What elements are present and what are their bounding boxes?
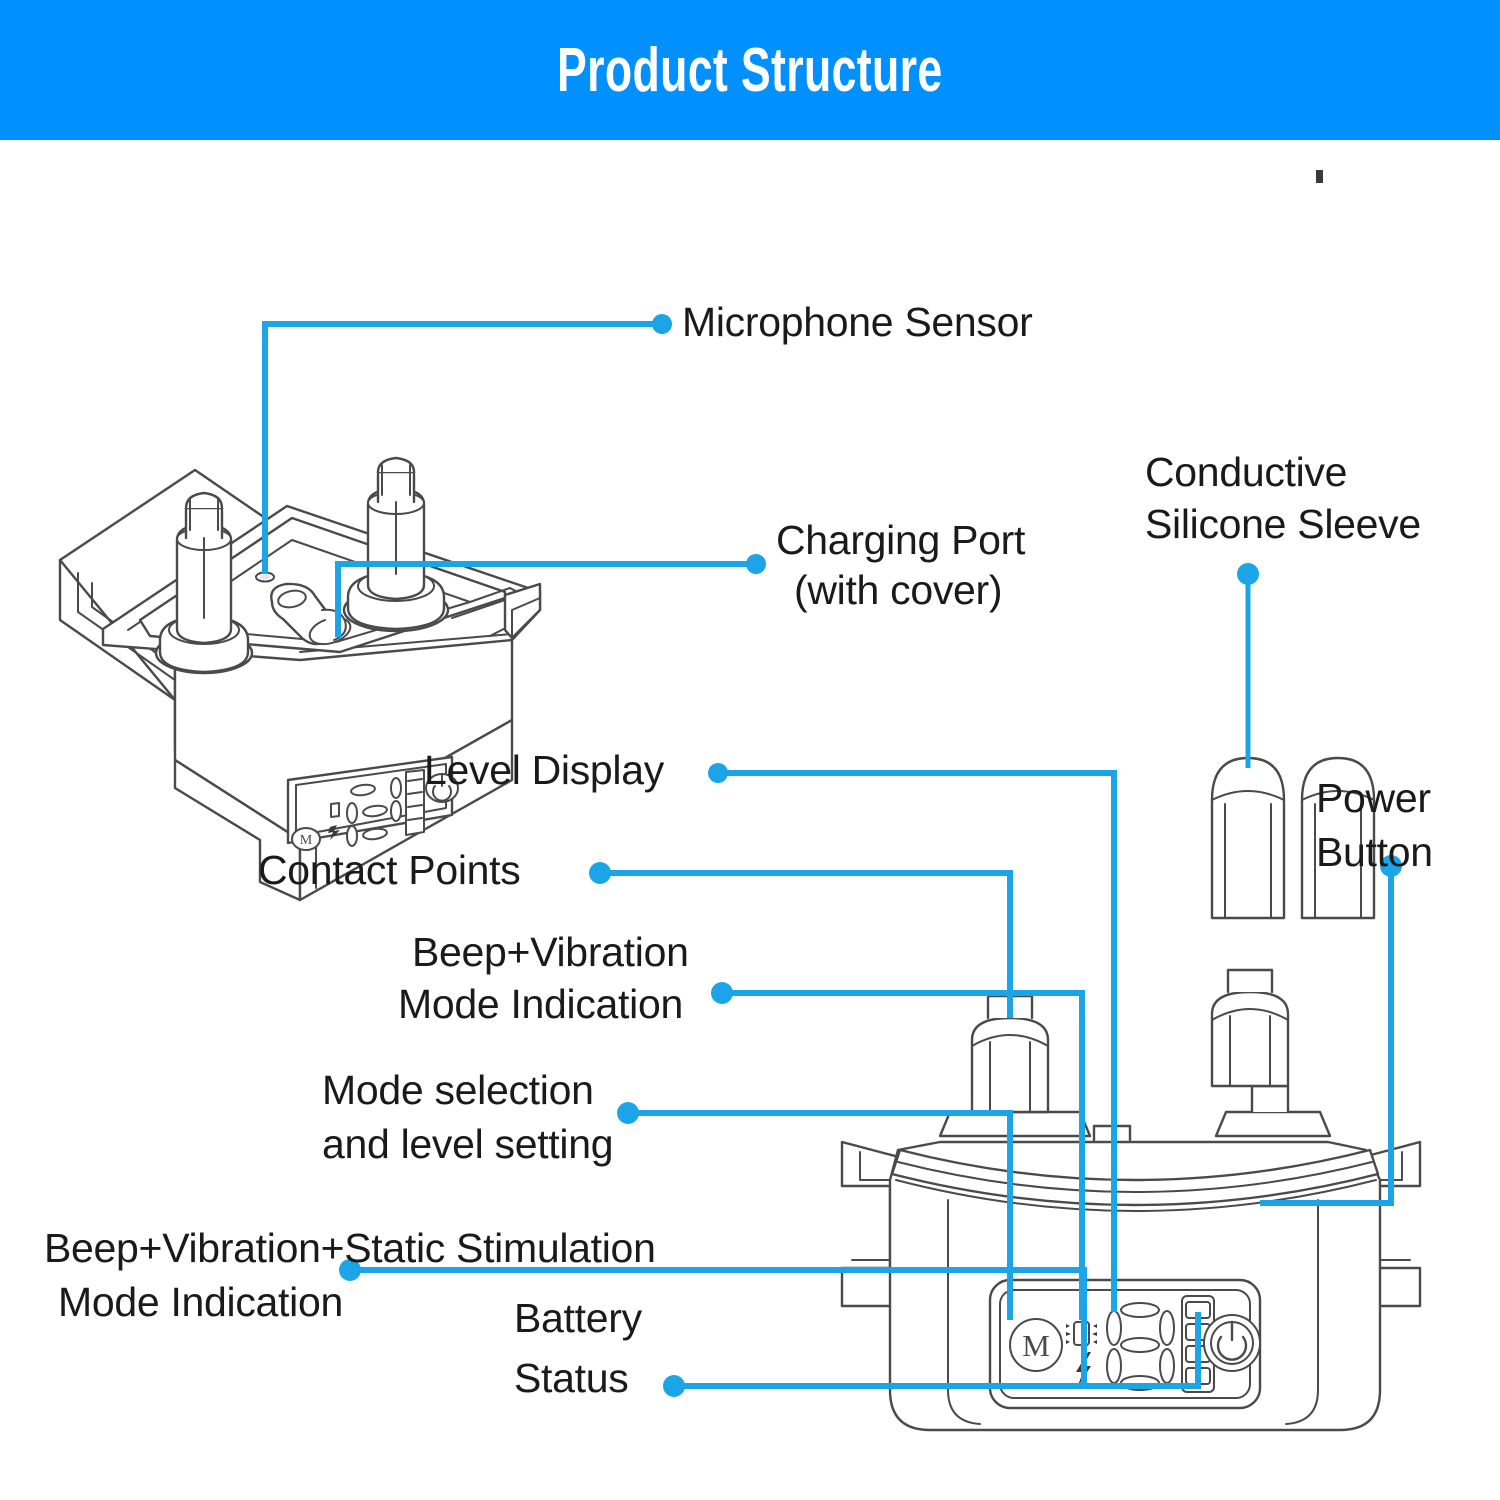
header-banner: Product Structure [0, 0, 1500, 140]
level-bar-iso [406, 770, 424, 835]
label-beep-vib-static-line2: Mode Indication [58, 1280, 343, 1326]
label-beep-vibration-line1: Beep+Vibration [412, 930, 689, 976]
label-conductive-sleeve-line2: Silicone Sleeve [1145, 502, 1421, 548]
label-beep-vibration-line2: Mode Indication [398, 982, 683, 1028]
label-power-button-line2: Button [1316, 830, 1433, 876]
leader-dot-microphone-sensor [652, 314, 672, 334]
product-structure-diagram: Product Structure .ln{fill:none;stroke:#… [0, 0, 1500, 1500]
leader-dot-charging-port [746, 554, 766, 574]
svg-text:M: M [1022, 1328, 1050, 1363]
label-battery-status-line1: Battery [514, 1296, 642, 1342]
artifact-mark [1316, 170, 1323, 183]
diagram-canvas: .ln{fill:none;stroke:#4a4a4a;stroke-widt… [0, 140, 1500, 1500]
silicone-sleeve-left [1212, 758, 1284, 918]
leader-dot-beep-vibration [711, 982, 733, 1004]
label-mode-selection-line2: and level setting [322, 1122, 613, 1168]
label-charging-port-line2: (with cover) [794, 568, 1002, 614]
svg-text:M: M [300, 833, 313, 848]
leader-dot-mode-selection [617, 1102, 639, 1124]
power-button-front [1204, 1315, 1260, 1371]
leader-dot-silicone-sleeve [1237, 563, 1259, 585]
label-level-display: Level Display [424, 748, 664, 794]
label-mode-selection-line1: Mode selection [322, 1068, 594, 1114]
contact-probe-front-right [1212, 970, 1288, 1086]
label-microphone-sensor: Microphone Sensor [682, 300, 1032, 346]
isometric-receiver-illustration: M [60, 458, 540, 900]
leader-dot-contact-points [589, 862, 611, 884]
page-title: Product Structure [557, 35, 943, 106]
label-contact-points: Contact Points [258, 848, 520, 894]
label-battery-status-line2: Status [514, 1356, 628, 1402]
label-beep-vib-static-line1: Beep+Vibration+Static Stimulation [44, 1226, 656, 1272]
label-power-button-line1: Power [1316, 776, 1431, 822]
leader-dot-level-display [708, 763, 728, 783]
label-conductive-sleeve-line1: Conductive [1145, 450, 1347, 496]
leader-dot-battery-status [663, 1375, 685, 1397]
label-charging-port-line1: Charging Port [776, 518, 1025, 564]
mode-button-front: M [1010, 1319, 1062, 1371]
